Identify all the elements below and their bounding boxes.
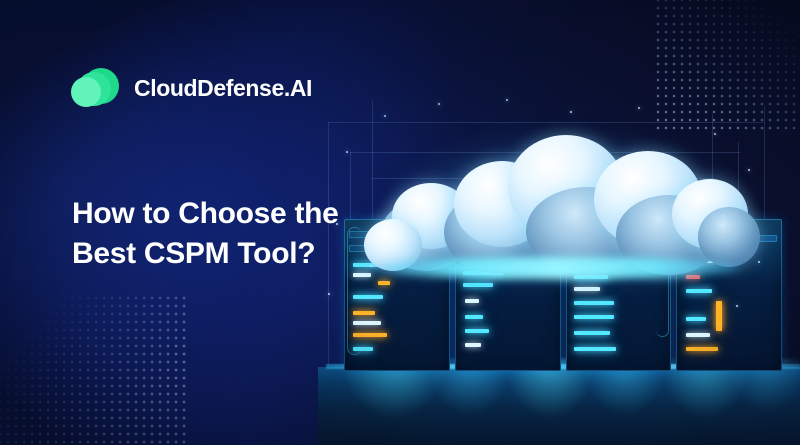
page-title: How to Choose the Best CSPM Tool?	[72, 194, 402, 274]
blog-banner: CloudDefense.AI How to Choose the Best C…	[0, 0, 800, 445]
banner-content: CloudDefense.AI How to Choose the Best C…	[0, 0, 420, 445]
brand-logo[interactable]: CloudDefense.AI	[68, 66, 312, 110]
cloud-logo-icon	[68, 66, 120, 110]
brand-name: CloudDefense.AI	[134, 75, 312, 102]
